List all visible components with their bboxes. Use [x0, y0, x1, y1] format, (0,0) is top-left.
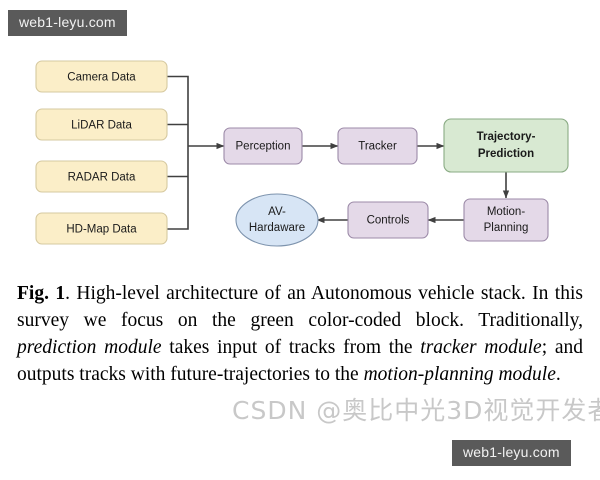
node-motion-planning[interactable]: Motion- Planning: [464, 199, 548, 241]
caption-italic-prediction-module: prediction module: [17, 337, 162, 358]
figure-caption: Fig. 1. High-level architecture of an Au…: [17, 280, 583, 388]
node-trajectory-prediction-label-line2: Prediction: [478, 148, 534, 160]
site-badge-top-left: web1-leyu.com: [8, 10, 127, 36]
node-controls-label: Controls: [367, 215, 410, 227]
node-av-hardware[interactable]: AV- Hardaware: [236, 194, 318, 246]
node-trajectory-prediction-label-line1: Trajectory-: [477, 131, 536, 143]
node-controls[interactable]: Controls: [348, 202, 428, 238]
node-hdmap-data-label: HD-Map Data: [66, 224, 137, 236]
node-av-hardware-label-line1: AV-: [268, 206, 286, 218]
node-motion-planning-label-line2: Planning: [484, 222, 529, 234]
caption-part-2: takes input of tracks from the: [162, 337, 421, 358]
node-tracker[interactable]: Tracker: [338, 128, 417, 164]
caption-part-4: .: [556, 364, 561, 385]
node-motion-planning-label-line1: Motion-: [487, 206, 526, 218]
node-radar-data[interactable]: RADAR Data: [36, 161, 167, 192]
node-av-hardware-label-line2: Hardaware: [249, 222, 305, 234]
site-badge-bottom-right: web1-leyu.com: [452, 440, 571, 466]
node-lidar-data[interactable]: LiDAR Data: [36, 109, 167, 140]
node-tracker-label: Tracker: [358, 141, 397, 153]
node-perception[interactable]: Perception: [224, 128, 302, 164]
node-perception-label: Perception: [236, 141, 291, 153]
node-radar-data-label: RADAR Data: [68, 172, 136, 184]
node-trajectory-prediction[interactable]: Trajectory- Prediction: [444, 119, 568, 172]
caption-figure-label: Fig. 1: [17, 283, 65, 304]
node-lidar-data-label: LiDAR Data: [71, 120, 132, 132]
caption-part-1: . High-level architecture of an Autonomo…: [17, 283, 583, 331]
figure-diagram: Camera Data LiDAR Data RADAR Data HD-Map…: [0, 0, 600, 270]
node-camera-data[interactable]: Camera Data: [36, 61, 167, 92]
caption-italic-tracker-module: tracker module: [420, 337, 541, 358]
caption-italic-motion-planning-module: motion-planning module: [364, 364, 556, 385]
input-bus-connectors: [167, 77, 224, 230]
csdn-watermark: CSDN @奥比中光3D视觉开发者社区: [232, 391, 600, 427]
node-hdmap-data[interactable]: HD-Map Data: [36, 213, 167, 244]
node-camera-data-label: Camera Data: [67, 72, 136, 84]
